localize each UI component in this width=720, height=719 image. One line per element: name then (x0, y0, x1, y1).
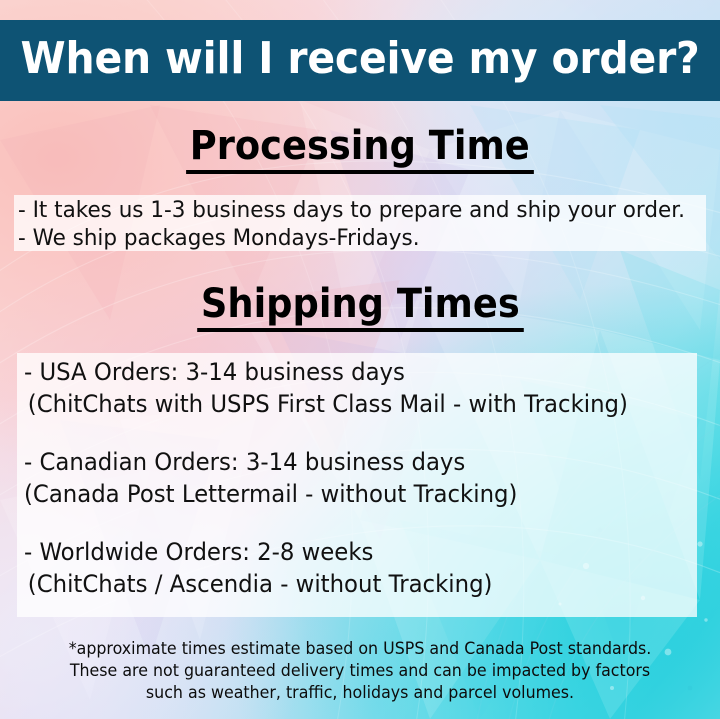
shipping-group-sub: (ChitChats / Ascendia - without Tracking… (24, 568, 664, 600)
shipping-group-sub: (Canada Post Lettermail - without Tracki… (24, 478, 664, 510)
infographic-canvas: When will I receive my order? Processing… (0, 0, 720, 719)
shipping-group-canada: - Canadian Orders: 3-14 business days (C… (24, 446, 698, 510)
shipping-group-main: - Worldwide Orders: 2-8 weeks (24, 536, 664, 568)
shipping-group-worldwide: - Worldwide Orders: 2-8 weeks (ChitChats… (24, 536, 698, 600)
section-heading-shipping-label: Shipping Times (197, 284, 523, 332)
section-heading-processing-label: Processing Time (186, 126, 533, 174)
shipping-group-main: - Canadian Orders: 3-14 business days (24, 446, 664, 478)
disclaimer: *approximate times estimate based on USP… (0, 638, 720, 704)
shipping-group-sub: (ChitChats with USPS First Class Mail - … (24, 388, 664, 420)
section-heading-processing: Processing Time (0, 126, 720, 174)
processing-line: - We ship packages Mondays-Fridays. (18, 224, 677, 252)
shipping-groups: - USA Orders: 3-14 business days (ChitCh… (24, 356, 698, 600)
processing-lines: - It takes us 1-3 business days to prepa… (18, 196, 708, 252)
disclaimer-line: such as weather, traffic, holidays and p… (14, 682, 705, 704)
disclaimer-line: These are not guaranteed delivery times … (14, 660, 705, 682)
processing-line: - It takes us 1-3 business days to prepa… (18, 196, 677, 224)
section-heading-shipping: Shipping Times (0, 284, 720, 332)
shipping-group-main: - USA Orders: 3-14 business days (24, 356, 664, 388)
disclaimer-line: *approximate times estimate based on USP… (14, 638, 705, 660)
infographic-content: When will I receive my order? Processing… (0, 0, 720, 719)
shipping-group-usa: - USA Orders: 3-14 business days (ChitCh… (24, 356, 698, 420)
title-banner: When will I receive my order? (0, 20, 720, 101)
page-title: When will I receive my order? (20, 37, 699, 81)
